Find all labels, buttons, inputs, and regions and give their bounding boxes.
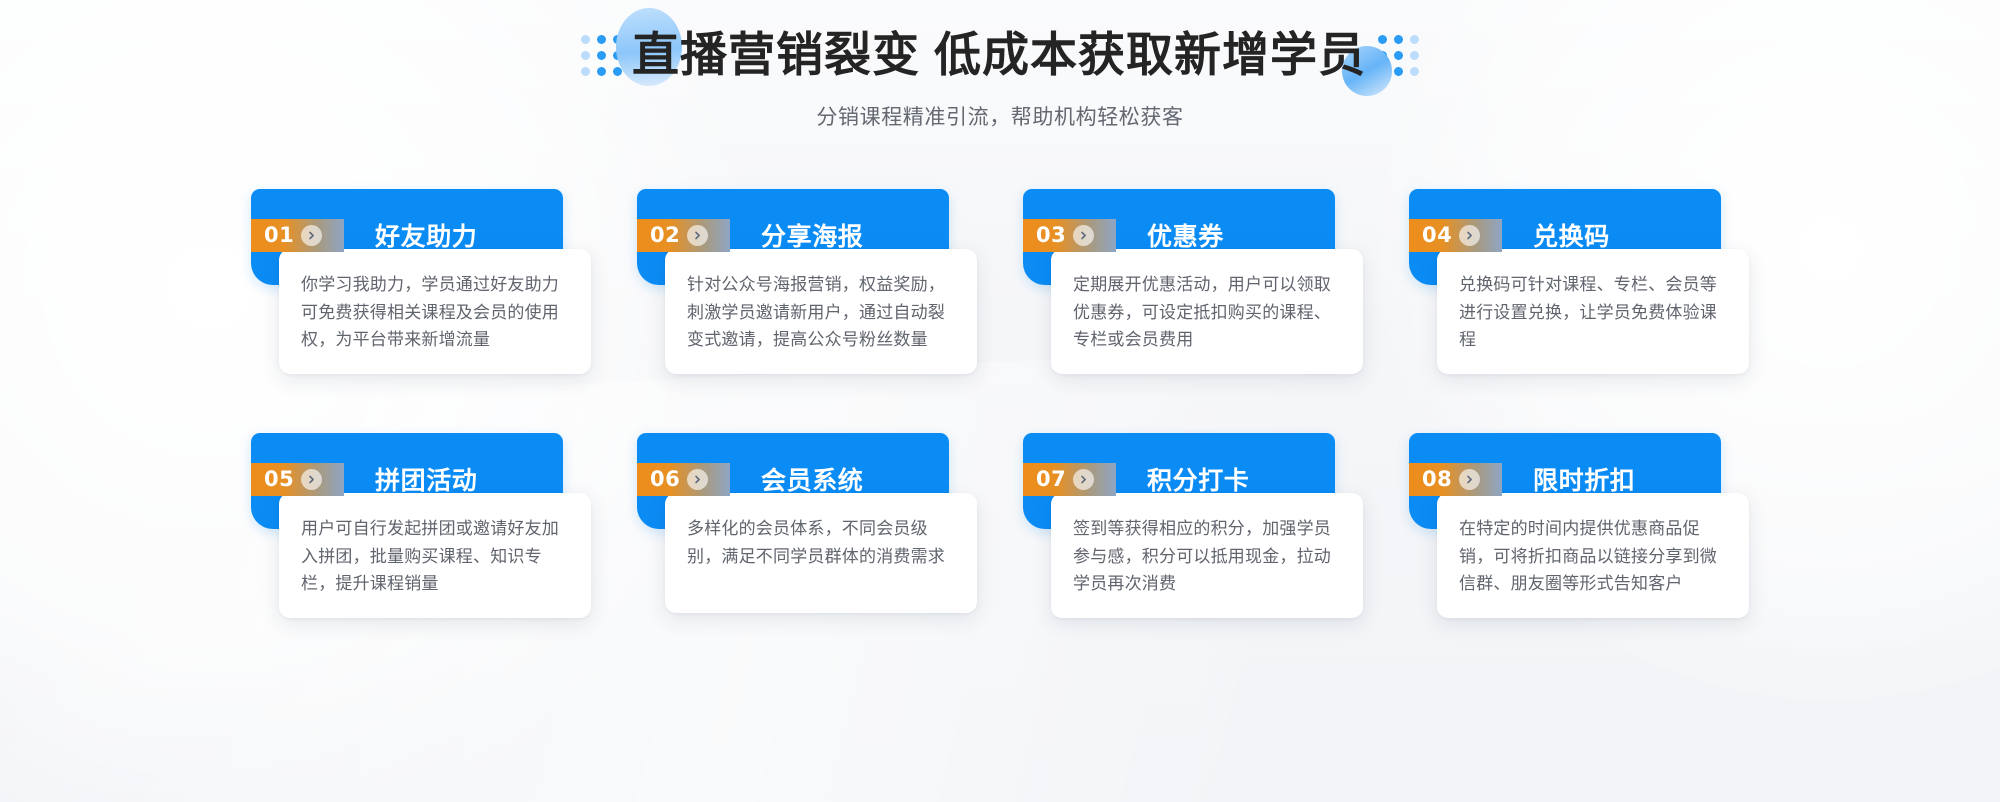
feature-card-title: 兑换码 <box>1533 217 1610 253</box>
feature-card-title: 优惠券 <box>1147 217 1224 253</box>
feature-card[interactable]: 07积分打卡签到等获得相应的积分，加强学员参与感，积分可以抵用现金，拉动学员再次… <box>1023 433 1363 613</box>
feature-card-title: 分享海报 <box>761 217 863 253</box>
feature-card[interactable]: 02分享海报针对公众号海报营销，权益奖励，刺激学员邀请新用户，通过自动裂变式邀请… <box>637 189 977 369</box>
feature-card-badge: 05 <box>251 463 344 496</box>
dot-grid-right-icon <box>1378 35 1419 76</box>
feature-card[interactable]: 04兑换码兑换码可针对课程、专栏、会员等进行设置兑换，让学员免费体验课程 <box>1409 189 1749 369</box>
feature-card-number: 05 <box>264 469 294 490</box>
feature-card-badge: 03 <box>1023 219 1116 252</box>
feature-card-text: 签到等获得相应的积分，加强学员参与感，积分可以抵用现金，拉动学员再次消费 <box>1073 515 1343 598</box>
feature-card-title: 好友助力 <box>375 217 477 253</box>
feature-card-body: 在特定的时间内提供优惠商品促销，可将折扣商品以链接分享到微信群、朋友圈等形式告知… <box>1437 493 1749 618</box>
feature-card-text: 你学习我助力，学员通过好友助力可免费获得相关课程及会员的使用权，为平台带来新增流… <box>301 271 571 354</box>
feature-card-badge: 08 <box>1409 463 1502 496</box>
title-row: 直播营销裂变 低成本获取新增学员 <box>581 26 1419 84</box>
feature-card-badge: 01 <box>251 219 344 252</box>
feature-card-body: 用户可自行发起拼团或邀请好友加入拼团，批量购买课程、知识专栏，提升课程销量 <box>279 493 591 618</box>
feature-card-body: 签到等获得相应的积分，加强学员参与感，积分可以抵用现金，拉动学员再次消费 <box>1051 493 1363 618</box>
feature-card-title: 拼团活动 <box>375 461 477 497</box>
feature-card-number: 07 <box>1036 469 1066 490</box>
feature-card-number: 01 <box>264 225 294 246</box>
feature-card-number: 04 <box>1422 225 1452 246</box>
feature-card-text: 多样化的会员体系，不同会员级别，满足不同学员群体的消费需求 <box>687 515 957 570</box>
feature-card-badge: 04 <box>1409 219 1502 252</box>
feature-card-grid: 01好友助力你学习我助力，学员通过好友助力可免费获得相关课程及会员的使用权，为平… <box>250 189 1750 613</box>
chevron-right-icon[interactable] <box>1459 225 1480 246</box>
feature-card-body: 兑换码可针对课程、专栏、会员等进行设置兑换，让学员免费体验课程 <box>1437 249 1749 374</box>
page-title: 直播营销裂变 低成本获取新增学员 <box>632 26 1366 84</box>
chevron-right-icon[interactable] <box>1073 469 1094 490</box>
chevron-right-icon[interactable] <box>1073 225 1094 246</box>
feature-card-badge: 02 <box>637 219 730 252</box>
feature-card-body: 多样化的会员体系，不同会员级别，满足不同学员群体的消费需求 <box>665 493 977 613</box>
feature-card-number: 02 <box>650 225 680 246</box>
feature-card[interactable]: 01好友助力你学习我助力，学员通过好友助力可免费获得相关课程及会员的使用权，为平… <box>251 189 591 369</box>
feature-card-title: 积分打卡 <box>1147 461 1249 497</box>
chevron-right-icon[interactable] <box>1459 469 1480 490</box>
feature-card-body: 你学习我助力，学员通过好友助力可免费获得相关课程及会员的使用权，为平台带来新增流… <box>279 249 591 374</box>
feature-card-text: 在特定的时间内提供优惠商品促销，可将折扣商品以链接分享到微信群、朋友圈等形式告知… <box>1459 515 1729 598</box>
feature-card-text: 兑换码可针对课程、专栏、会员等进行设置兑换，让学员免费体验课程 <box>1459 271 1729 354</box>
chevron-right-icon[interactable] <box>687 225 708 246</box>
title-wrap: 直播营销裂变 低成本获取新增学员 <box>632 26 1366 84</box>
chevron-right-icon[interactable] <box>687 469 708 490</box>
feature-card[interactable]: 05拼团活动用户可自行发起拼团或邀请好友加入拼团，批量购买课程、知识专栏，提升课… <box>251 433 591 613</box>
feature-card[interactable]: 03优惠券定期展开优惠活动，用户可以领取优惠券，可设定抵扣购买的课程、专栏或会员… <box>1023 189 1363 369</box>
feature-card-number: 08 <box>1422 469 1452 490</box>
feature-card-title: 限时折扣 <box>1533 461 1635 497</box>
feature-card-text: 定期展开优惠活动，用户可以领取优惠券，可设定抵扣购买的课程、专栏或会员费用 <box>1073 271 1343 354</box>
feature-card-badge: 06 <box>637 463 730 496</box>
feature-card-title: 会员系统 <box>761 461 863 497</box>
feature-card-badge: 07 <box>1023 463 1116 496</box>
feature-card-number: 06 <box>650 469 680 490</box>
feature-card-body: 针对公众号海报营销，权益奖励，刺激学员邀请新用户，通过自动裂变式邀请，提高公众号… <box>665 249 977 374</box>
feature-card-number: 03 <box>1036 225 1066 246</box>
feature-card-text: 针对公众号海报营销，权益奖励，刺激学员邀请新用户，通过自动裂变式邀请，提高公众号… <box>687 271 957 354</box>
feature-card-body: 定期展开优惠活动，用户可以领取优惠券，可设定抵扣购买的课程、专栏或会员费用 <box>1051 249 1363 374</box>
dot-grid-left-icon <box>581 35 622 76</box>
page-header: 直播营销裂变 低成本获取新增学员 分销课程精准引流，帮助机构轻松获客 <box>0 0 2000 131</box>
feature-card-text: 用户可自行发起拼团或邀请好友加入拼团，批量购买课程、知识专栏，提升课程销量 <box>301 515 571 598</box>
feature-card[interactable]: 08限时折扣在特定的时间内提供优惠商品促销，可将折扣商品以链接分享到微信群、朋友… <box>1409 433 1749 613</box>
feature-card[interactable]: 06会员系统多样化的会员体系，不同会员级别，满足不同学员群体的消费需求 <box>637 433 977 613</box>
chevron-right-icon[interactable] <box>301 469 322 490</box>
page-subtitle: 分销课程精准引流，帮助机构轻松获客 <box>0 101 2000 131</box>
chevron-right-icon[interactable] <box>301 225 322 246</box>
